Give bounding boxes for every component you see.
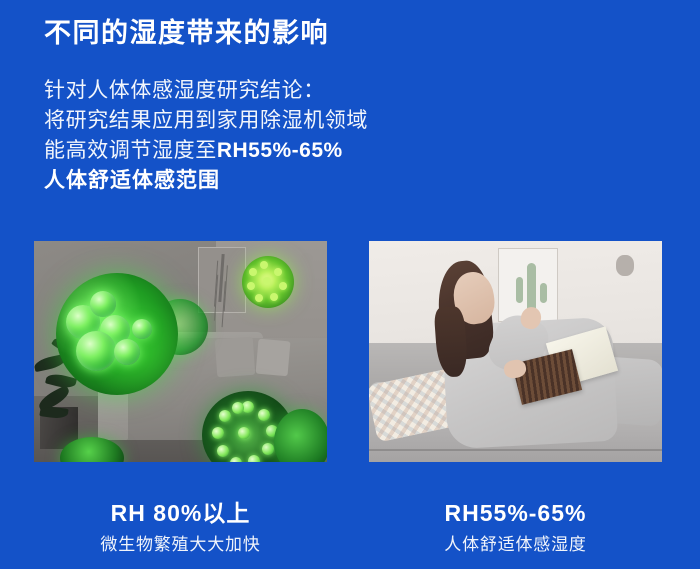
humidity-range-emphasis: RH55%-65%	[217, 139, 343, 162]
promo-slide: 不同的湿度带来的影响 针对人体体感湿度研究结论： 将研究结果应用到家用除湿机领域…	[0, 0, 700, 569]
wall-art-frame-icon	[198, 247, 246, 313]
description-paragraph: 针对人体体感湿度研究结论： 将研究结果应用到家用除湿机领域 能高效调节湿度至RH…	[44, 76, 368, 196]
page-title: 不同的湿度带来的影响	[44, 17, 329, 51]
description-line-4: 人体舒适体感范围	[44, 166, 368, 196]
caption-high-humidity: RH 80%以上 微生物繁殖大大加快	[34, 498, 327, 556]
sofa-seam	[369, 449, 662, 451]
description-line-1: 针对人体体感湿度研究结论：	[44, 76, 368, 106]
panel-image-high-humidity	[34, 241, 327, 462]
germ-cluster-large-icon	[56, 273, 178, 395]
caption-title: RH 80%以上	[34, 498, 327, 528]
description-line-3-prefix: 能高效调节湿度至	[44, 139, 217, 162]
panel-image-comfort-humidity	[369, 241, 662, 462]
caption-title: RH55%-65%	[369, 498, 662, 528]
caption-subtitle: 微生物繁殖大大加快	[34, 533, 327, 556]
wall-sensor-icon	[300, 253, 313, 268]
germ-sphere-small-icon	[242, 256, 294, 308]
germ-room-illustration	[34, 241, 327, 462]
description-line-2: 将研究结果应用到家用除湿机领域	[44, 106, 368, 136]
sofa-cushion	[214, 337, 255, 377]
description-line-3: 能高效调节湿度至RH55%-65%	[44, 136, 368, 166]
sofa-cushion-secondary	[255, 339, 290, 377]
wall-sensor-icon	[616, 255, 634, 276]
germ-cluster-right-icon	[274, 409, 327, 462]
caption-subtitle: 人体舒适体感湿度	[369, 533, 662, 556]
comfort-room-photo	[369, 241, 662, 462]
caption-comfort-humidity: RH55%-65% 人体舒适体感湿度	[369, 498, 662, 556]
